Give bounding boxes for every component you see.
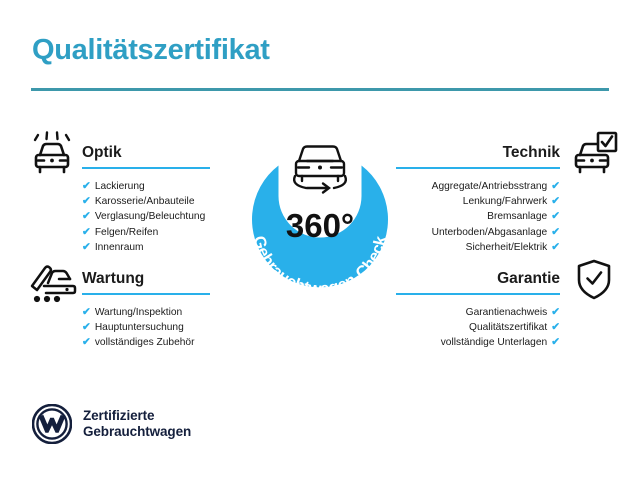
list-item-label: Unterboden/Abgasanlage bbox=[432, 227, 548, 238]
list-item: ✔Verglasung/Beleuchtung bbox=[82, 209, 210, 224]
list-item: Qualitätszertifikat✔ bbox=[396, 320, 560, 335]
list-item-label: vollständige Unterlagen bbox=[441, 337, 547, 348]
section-technik-title: Technik bbox=[396, 142, 560, 164]
vw-wordmark-line1: Zertifizierte bbox=[83, 408, 191, 425]
list-item: ✔Hauptuntersuchung bbox=[82, 320, 210, 335]
check-icon: ✔ bbox=[551, 226, 560, 238]
check-icon: ✔ bbox=[82, 241, 91, 253]
section-wartung-title: Wartung bbox=[82, 268, 210, 290]
badge-center-label: 360° bbox=[286, 207, 354, 244]
list-item-label: Qualitätszertifikat bbox=[469, 322, 547, 333]
list-item: Unterboden/Abgasanlage✔ bbox=[396, 225, 560, 240]
list-item: Sicherheit/Elektrik✔ bbox=[396, 240, 560, 255]
list-item-label: vollständiges Zubehör bbox=[95, 337, 195, 348]
list-item: ✔Innenraum bbox=[82, 240, 210, 255]
section-garantie-divider bbox=[396, 293, 560, 295]
check-icon: ✔ bbox=[82, 306, 91, 318]
check-icon: ✔ bbox=[551, 336, 560, 348]
section-optik: Optik ✔Lackierung ✔Karosserie/Anbauteile… bbox=[82, 142, 210, 255]
section-technik: Technik Aggregate/Antriebsstrang✔ Lenkun… bbox=[396, 142, 560, 255]
check-icon: ✔ bbox=[551, 195, 560, 207]
section-optik-divider bbox=[82, 167, 210, 169]
section-wartung-header: Wartung bbox=[82, 268, 210, 298]
badge-360-gebrauchtwagen-check: Gebrauchtwagen-Check 360° bbox=[226, 126, 414, 314]
list-item-label: Bremsanlage bbox=[487, 211, 547, 222]
car-shine-icon bbox=[28, 131, 76, 182]
section-garantie: Garantie Garantienachweis✔ Qualitätszert… bbox=[396, 268, 560, 351]
section-wartung-list: ✔Wartung/Inspektion ✔Hauptuntersuchung ✔… bbox=[82, 305, 210, 351]
section-wartung-divider bbox=[82, 293, 210, 295]
list-item: ✔Wartung/Inspektion bbox=[82, 305, 210, 320]
list-item-label: Lenkung/Fahrwerk bbox=[463, 196, 547, 207]
vw-wordmark-line2: Gebrauchtwagen bbox=[83, 424, 191, 441]
vw-logo-icon bbox=[32, 404, 72, 444]
list-item: ✔Karosserie/Anbauteile bbox=[82, 194, 210, 209]
check-icon: ✔ bbox=[82, 180, 91, 192]
section-optik-header: Optik bbox=[82, 142, 210, 172]
list-item: Aggregate/Antriebsstrang✔ bbox=[396, 179, 560, 194]
check-icon: ✔ bbox=[82, 226, 91, 238]
check-icon: ✔ bbox=[551, 321, 560, 333]
section-technik-divider bbox=[396, 167, 560, 169]
car-checkbox-icon bbox=[570, 131, 618, 182]
list-item: Bremsanlage✔ bbox=[396, 209, 560, 224]
section-technik-list: Aggregate/Antriebsstrang✔ Lenkung/Fahrwe… bbox=[396, 179, 560, 255]
vw-wordmark: Zertifizierte Gebrauchtwagen bbox=[83, 408, 191, 441]
check-icon: ✔ bbox=[551, 306, 560, 318]
car-rotate-360-icon bbox=[294, 147, 346, 193]
quality-certificate-page: Qualitätszertifikat bbox=[0, 0, 640, 480]
page-title: Qualitätszertifikat bbox=[32, 34, 270, 67]
list-item-label: Hauptuntersuchung bbox=[95, 322, 184, 333]
check-icon: ✔ bbox=[82, 336, 91, 348]
section-garantie-list: Garantienachweis✔ Qualitätszertifikat✔ v… bbox=[396, 305, 560, 351]
list-item-label: Verglasung/Beleuchtung bbox=[95, 211, 205, 222]
check-icon: ✔ bbox=[551, 210, 560, 222]
list-item-label: Lackierung bbox=[95, 181, 145, 192]
check-icon: ✔ bbox=[82, 321, 91, 333]
section-technik-header: Technik bbox=[396, 142, 560, 172]
title-divider bbox=[31, 88, 609, 91]
list-item-label: Aggregate/Antriebsstrang bbox=[432, 181, 548, 192]
list-item-label: Sicherheit/Elektrik bbox=[466, 242, 548, 253]
list-item-label: Innenraum bbox=[95, 242, 144, 253]
vw-certified-lockup: Zertifizierte Gebrauchtwagen bbox=[32, 404, 191, 444]
list-item: vollständige Unterlagen✔ bbox=[396, 335, 560, 350]
shield-check-icon bbox=[575, 258, 613, 307]
list-item: Lenkung/Fahrwerk✔ bbox=[396, 194, 560, 209]
section-garantie-title: Garantie bbox=[396, 268, 560, 290]
list-item-label: Karosserie/Anbauteile bbox=[95, 196, 195, 207]
car-service-wrench-icon bbox=[28, 258, 78, 309]
list-item: ✔vollständiges Zubehör bbox=[82, 335, 210, 350]
list-item: ✔Lackierung bbox=[82, 179, 210, 194]
list-item-label: Felgen/Reifen bbox=[95, 227, 158, 238]
check-icon: ✔ bbox=[551, 180, 560, 192]
list-item: ✔Felgen/Reifen bbox=[82, 225, 210, 240]
list-item-label: Garantienachweis bbox=[466, 307, 548, 318]
check-icon: ✔ bbox=[82, 210, 91, 222]
check-icon: ✔ bbox=[551, 241, 560, 253]
list-item-label: Wartung/Inspektion bbox=[95, 307, 182, 318]
check-icon: ✔ bbox=[82, 195, 91, 207]
section-wartung: Wartung ✔Wartung/Inspektion ✔Hauptunters… bbox=[82, 268, 210, 351]
list-item: Garantienachweis✔ bbox=[396, 305, 560, 320]
section-optik-list: ✔Lackierung ✔Karosserie/Anbauteile ✔Verg… bbox=[82, 179, 210, 255]
section-garantie-header: Garantie bbox=[396, 268, 560, 298]
section-optik-title: Optik bbox=[82, 142, 210, 164]
